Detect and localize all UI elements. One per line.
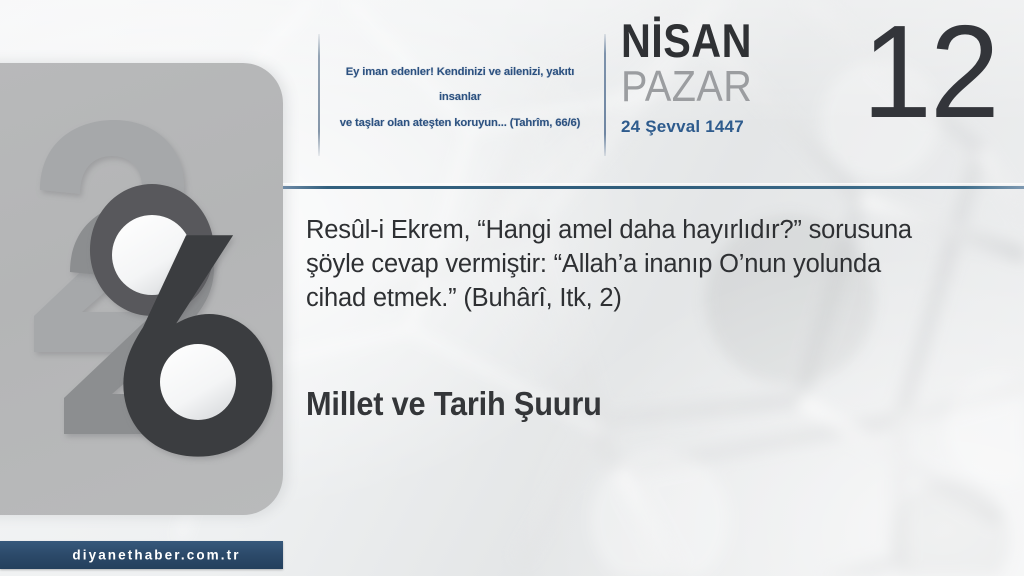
hijri-date: 24 Şevval 1447 (621, 117, 851, 137)
day-number: 12 (862, 6, 998, 138)
verse-line-1: Ey iman edenler! Kendinizi ve ailenizi, … (324, 60, 596, 111)
footer-url-text: diyanethaber.com.tr (0, 548, 283, 563)
footer-url-bar[interactable]: diyanethaber.com.tr (0, 541, 283, 569)
topic-heading: Millet ve Tarih Şuuru (306, 385, 602, 423)
quran-verse: Ey iman edenler! Kendinizi ve ailenizi, … (324, 60, 596, 136)
date-block: NİSAN PAZAR 24 Şevval 1447 (621, 18, 851, 137)
verse-line-2: ve taşlar olan ateşten koruyun... (Tahrî… (324, 111, 596, 136)
weekday-name: PAZAR (621, 65, 828, 109)
divider-horizontal (283, 186, 1024, 189)
hadith-text: Resûl-i Ekrem, “Hangi amel daha hayırlıd… (306, 213, 946, 315)
divider-vertical-right (604, 34, 606, 156)
calendar-page: Ey iman edenler! Kendinizi ve ailenizi, … (0, 0, 1024, 576)
year-2026-logo (18, 120, 283, 465)
month-name: NİSAN (621, 18, 823, 63)
divider-vertical-left (318, 34, 320, 156)
